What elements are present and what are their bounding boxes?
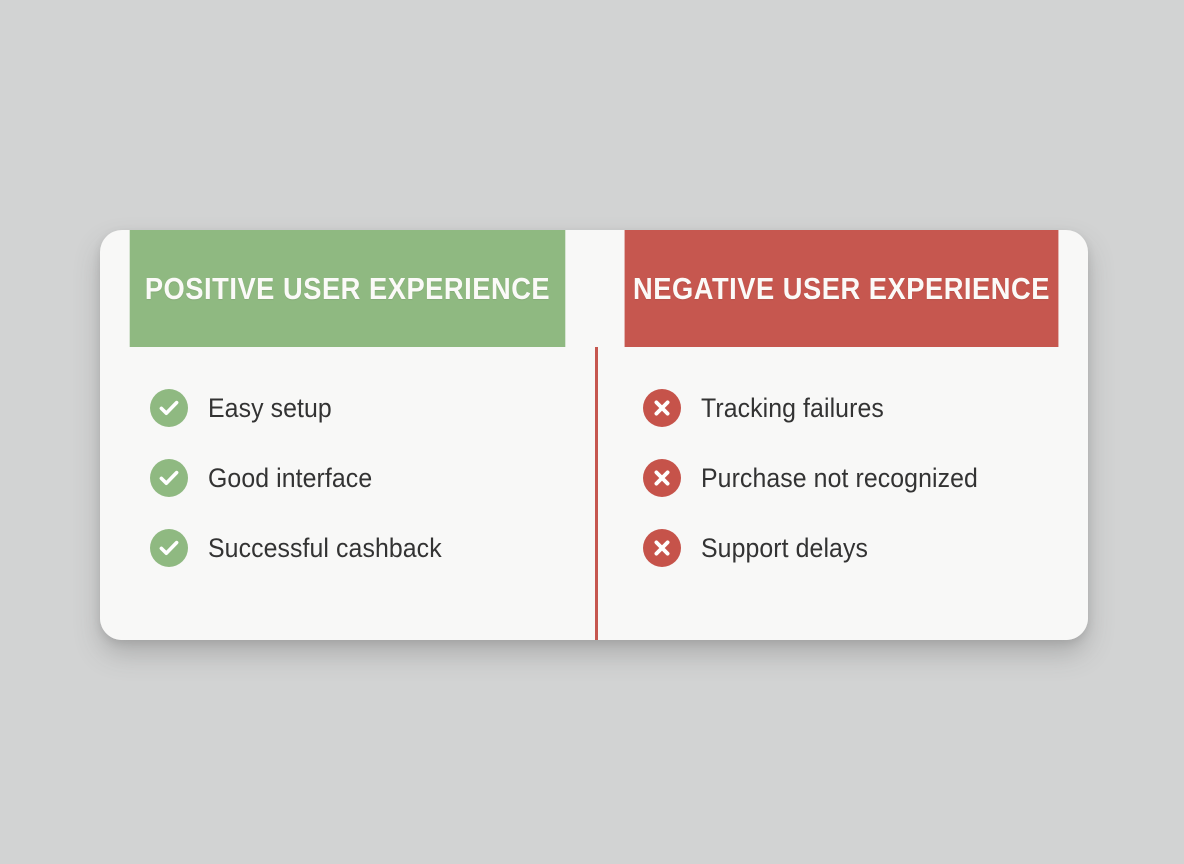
comparison-card: POSITIVE USER EXPERIENCE NEGATIVE USER E… [100, 230, 1088, 640]
header-negative-user-experience: NEGATIVE USER EXPERIENCE [625, 230, 1059, 347]
check-circle-icon [150, 529, 188, 567]
list-item: Successful cashback [150, 513, 595, 583]
x-circle-icon [643, 529, 681, 567]
list-item-label: Successful cashback [208, 533, 442, 564]
column-negative: Tracking failures Purchase not recognize… [595, 347, 1088, 640]
check-circle-icon [150, 389, 188, 427]
list-item: Easy setup [150, 373, 595, 443]
list-item: Good interface [150, 443, 595, 513]
list-item: Support delays [643, 513, 1088, 583]
list-item-label: Purchase not recognized [701, 463, 978, 494]
check-circle-icon [150, 459, 188, 497]
header-positive-user-experience: POSITIVE USER EXPERIENCE [130, 230, 566, 347]
list-item-label: Good interface [208, 463, 372, 494]
list-item: Purchase not recognized [643, 443, 1088, 513]
list-item-label: Easy setup [208, 393, 332, 424]
x-circle-icon [643, 389, 681, 427]
x-circle-icon [643, 459, 681, 497]
list-item: Tracking failures [643, 373, 1088, 443]
list-item-label: Support delays [701, 533, 868, 564]
card-header: POSITIVE USER EXPERIENCE NEGATIVE USER E… [100, 230, 1088, 347]
header-negative-label: NEGATIVE USER EXPERIENCE [633, 271, 1050, 307]
header-positive-label: POSITIVE USER EXPERIENCE [145, 271, 550, 307]
list-item-label: Tracking failures [701, 393, 884, 424]
canvas: POSITIVE USER EXPERIENCE NEGATIVE USER E… [0, 0, 1184, 864]
card-body: Easy setup Good interface [100, 347, 1088, 640]
column-positive: Easy setup Good interface [100, 347, 595, 640]
